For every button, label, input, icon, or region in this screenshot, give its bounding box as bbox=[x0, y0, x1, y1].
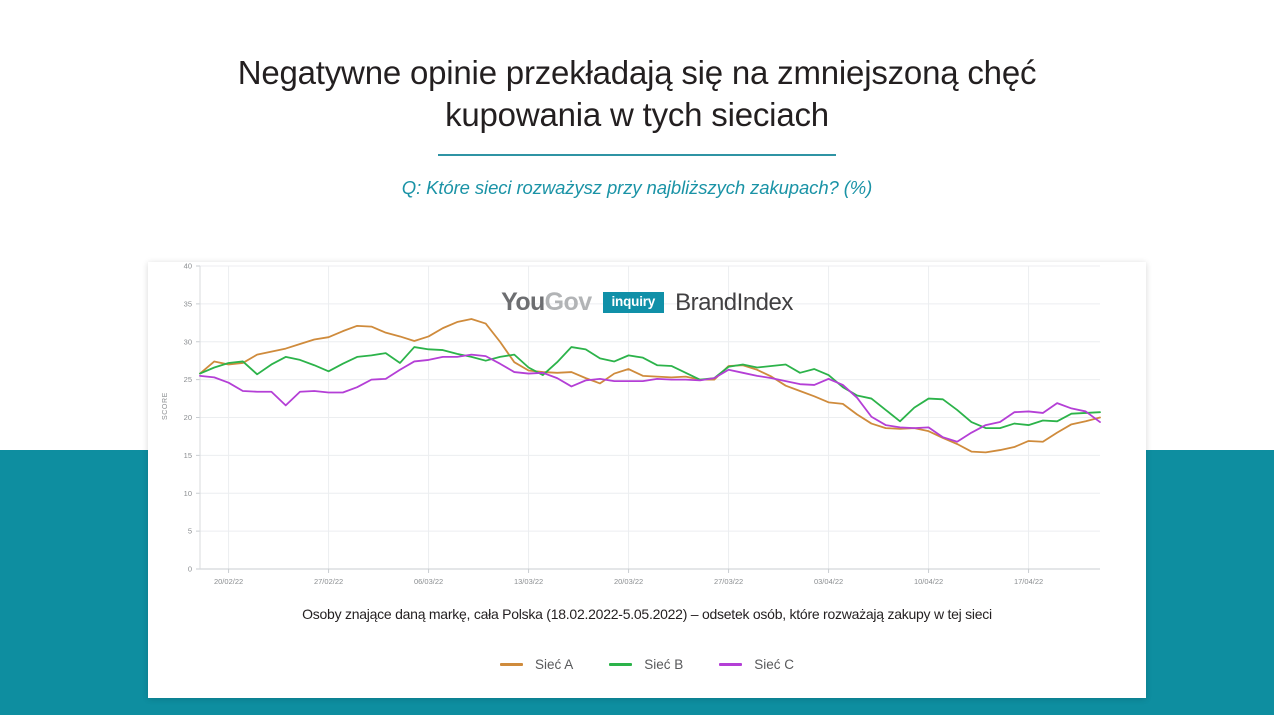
chart-card: YouGov inquiry BrandIndex SCORE 05101520… bbox=[148, 262, 1146, 698]
legend-item[interactable]: Sieć B bbox=[609, 657, 683, 672]
y-tick-label: 25 bbox=[184, 375, 192, 384]
title-block: Negatywne opinie przekładają się na zmni… bbox=[0, 52, 1274, 199]
x-tick-label: 20/03/22 bbox=[614, 577, 643, 586]
yougov-logo: YouGov bbox=[501, 288, 591, 317]
y-tick-label: 0 bbox=[188, 565, 192, 574]
chart-legend: Sieć ASieć BSieć C bbox=[148, 657, 1146, 672]
x-tick-label: 17/04/22 bbox=[1014, 577, 1043, 586]
x-tick-label: 10/04/22 bbox=[914, 577, 943, 586]
legend-item[interactable]: Sieć C bbox=[719, 657, 794, 672]
yougov-gov-text: Gov bbox=[545, 288, 592, 316]
legend-label: Sieć C bbox=[754, 657, 794, 672]
y-tick-label: 5 bbox=[188, 527, 192, 536]
x-tick-label: 03/04/22 bbox=[814, 577, 843, 586]
x-tick-label: 20/02/22 bbox=[214, 577, 243, 586]
inquiry-badge: inquiry bbox=[603, 292, 665, 313]
x-tick-label: 27/02/22 bbox=[314, 577, 343, 586]
legend-label: Sieć A bbox=[535, 657, 573, 672]
x-tick-label: 27/03/22 bbox=[714, 577, 743, 586]
y-tick-label: 40 bbox=[184, 262, 192, 271]
x-tick-label: 13/03/22 bbox=[514, 577, 543, 586]
page-title: Negatywne opinie przekładają się na zmni… bbox=[0, 52, 1274, 136]
legend-swatch-icon bbox=[609, 663, 632, 666]
yougov-you-text: You bbox=[501, 288, 545, 316]
y-axis-title: SCORE bbox=[162, 392, 169, 420]
x-tick-label: 06/03/22 bbox=[414, 577, 443, 586]
y-tick-label: 30 bbox=[184, 337, 192, 346]
y-tick-label: 20 bbox=[184, 413, 192, 422]
brandindex-text: BrandIndex bbox=[675, 289, 793, 317]
legend-swatch-icon bbox=[500, 663, 523, 666]
slide-root: Negatywne opinie przekładają się na zmni… bbox=[0, 0, 1274, 715]
y-tick-label: 10 bbox=[184, 489, 192, 498]
legend-swatch-icon bbox=[719, 663, 742, 666]
chart-caption: Osoby znające daną markę, cała Polska (1… bbox=[148, 606, 1146, 622]
series-line[interactable] bbox=[200, 319, 1100, 452]
series-line[interactable] bbox=[200, 347, 1100, 428]
page-subtitle: Q: Które sieci rozważysz przy najbliższy… bbox=[0, 177, 1274, 199]
yougov-brandindex-watermark: YouGov inquiry BrandIndex bbox=[148, 288, 1146, 317]
title-underline-rule bbox=[438, 154, 836, 156]
legend-item[interactable]: Sieć A bbox=[500, 657, 573, 672]
legend-label: Sieć B bbox=[644, 657, 683, 672]
y-tick-label: 15 bbox=[184, 451, 192, 460]
